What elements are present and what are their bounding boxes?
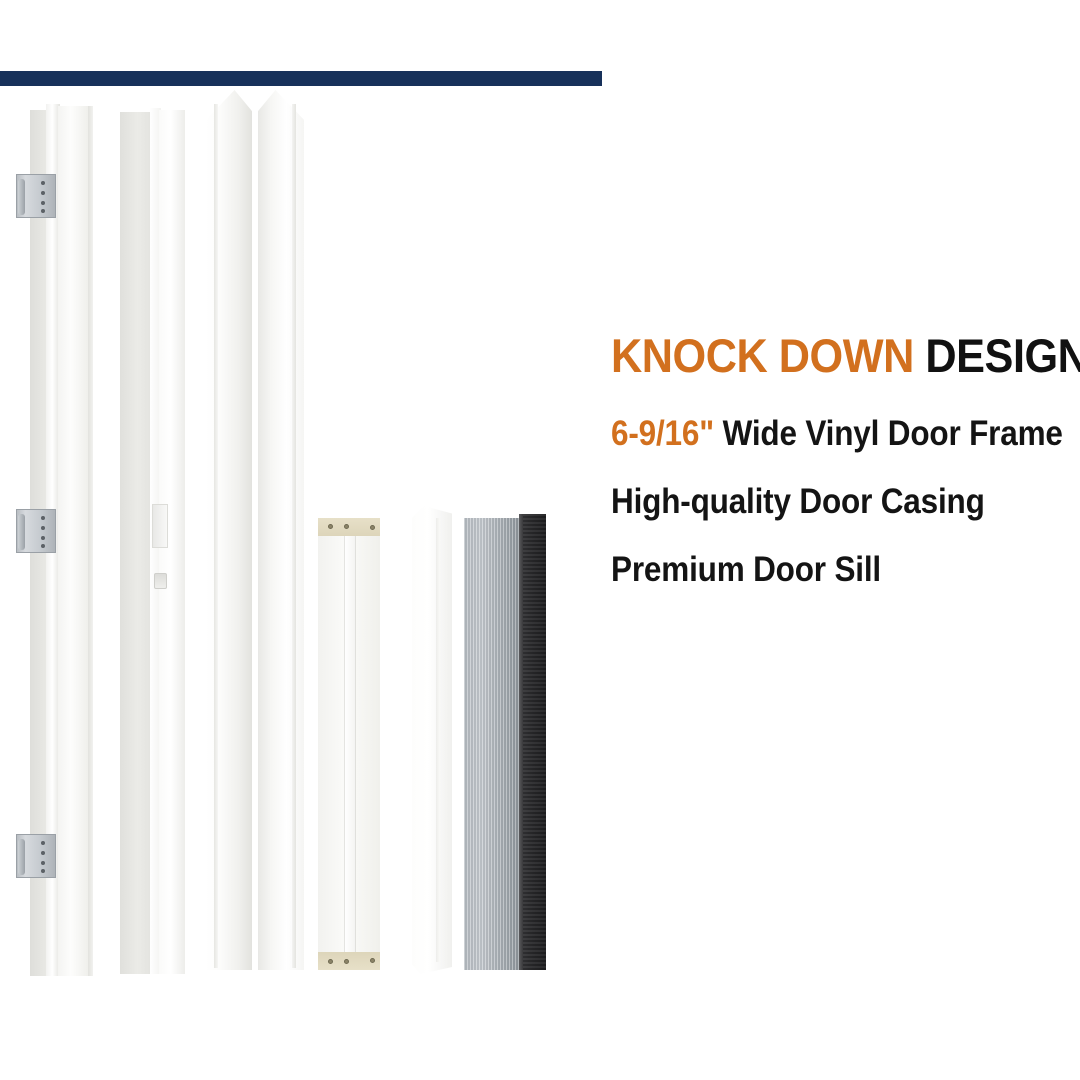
hinge-screw [41,526,45,530]
product-photo [0,86,580,1006]
hinge-screw [41,201,45,205]
feature-1-accent: 6-9/16" [611,414,714,453]
door-sill-aluminum-face [464,518,519,970]
casing-sill-groove [436,518,440,962]
hinge-screw [41,191,45,195]
page-title: KNOCK DOWN DESIGN [611,332,1043,380]
casing-sill [412,506,452,974]
feature-line-2: High-quality Door Casing [611,484,1034,519]
hinge-screw [41,536,45,540]
hinge-knuckle [18,839,25,875]
hinge-screw [41,209,45,213]
hinge-screw [41,544,45,548]
end-cap-screw [328,524,333,529]
feature-3-text: Premium Door Sill [611,550,881,589]
head-jamb-end-cap-top [318,518,380,536]
hinge-screw [41,841,45,845]
hinge-jamb-front-face [58,106,90,976]
product-marketing-image: KNOCK DOWN DESIGN 6-9/16" Wide Vinyl Doo… [0,0,1080,1080]
headline-plain: DESIGN [925,329,1080,382]
door-sill-dark-edge [519,514,546,970]
hinge-screw [41,869,45,873]
end-cap-screw [328,959,333,964]
head-jamb-end-cap-bottom [318,952,380,970]
strike-plate [152,504,168,548]
hinge-screw [41,516,45,520]
casing-left [206,90,252,970]
headline-accent: KNOCK DOWN [611,329,914,382]
end-cap-screw [344,524,349,529]
hinge-icon-top [16,174,56,218]
top-accent-rule [0,71,602,86]
hinge-knuckle [18,514,25,550]
hinge-icon-middle [16,509,56,553]
feature-1-text: Wide Vinyl Door Frame [723,414,1063,453]
hinge-jamb-edge-shadow [88,106,93,976]
latch-hole [154,573,167,589]
headline-rest [914,329,926,382]
marketing-copy: KNOCK DOWN DESIGN 6-9/16" Wide Vinyl Doo… [611,332,1080,587]
casing-left-groove [214,104,218,968]
end-cap-screw [370,525,375,530]
casing-right-groove [292,104,296,968]
casing-right [258,90,304,970]
feature-line-1: 6-9/16" Wide Vinyl Door Frame [611,416,1034,451]
hinge-knuckle [18,179,25,215]
strike-jamb-back-face [120,112,152,974]
hinge-screw [41,861,45,865]
hinge-icon-bottom [16,834,56,878]
end-cap-screw [344,959,349,964]
hinge-screw [41,181,45,185]
head-jamb-rib [344,530,356,958]
hinge-screw [41,851,45,855]
end-cap-screw [370,958,375,963]
feature-2-text: High-quality Door Casing [611,482,985,521]
feature-line-3: Premium Door Sill [611,552,1034,587]
door-sill-edge-highlight [519,514,523,970]
